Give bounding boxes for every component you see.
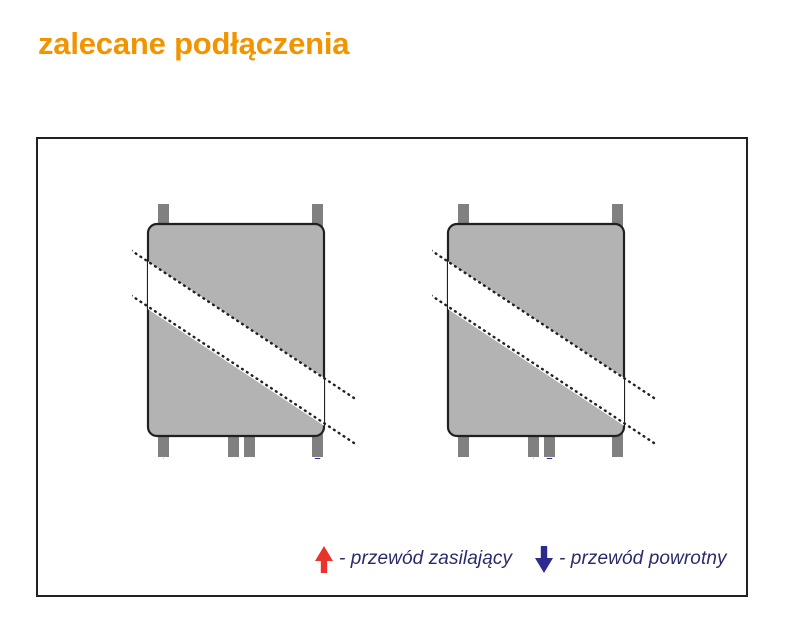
legend-label-return: - przewód powrotny xyxy=(559,548,727,570)
page-title: zalecane podłączenia xyxy=(38,26,349,62)
radiator-right xyxy=(432,139,662,459)
legend-item-return: - przewód powrotny xyxy=(534,539,727,579)
legend-item-supply: - przewód zasilający xyxy=(314,539,512,579)
radiator-left xyxy=(132,139,362,459)
radiator-left-drawing xyxy=(132,139,362,459)
radiator-right-drawing xyxy=(432,139,662,459)
legend-label-supply: - przewód zasilający xyxy=(339,548,512,570)
supply-arrow-up-icon xyxy=(157,458,171,459)
arrow-down-icon xyxy=(534,544,554,574)
legend: - przewód zasilający - przewód powrotny xyxy=(38,539,746,589)
arrow-up-icon xyxy=(314,544,334,574)
return-arrow-down-icon xyxy=(311,458,325,459)
diagram-frame: - przewód zasilający - przewód powrotny xyxy=(36,137,748,597)
supply-arrow-up-icon xyxy=(527,458,541,459)
return-arrow-down-icon xyxy=(543,458,557,459)
